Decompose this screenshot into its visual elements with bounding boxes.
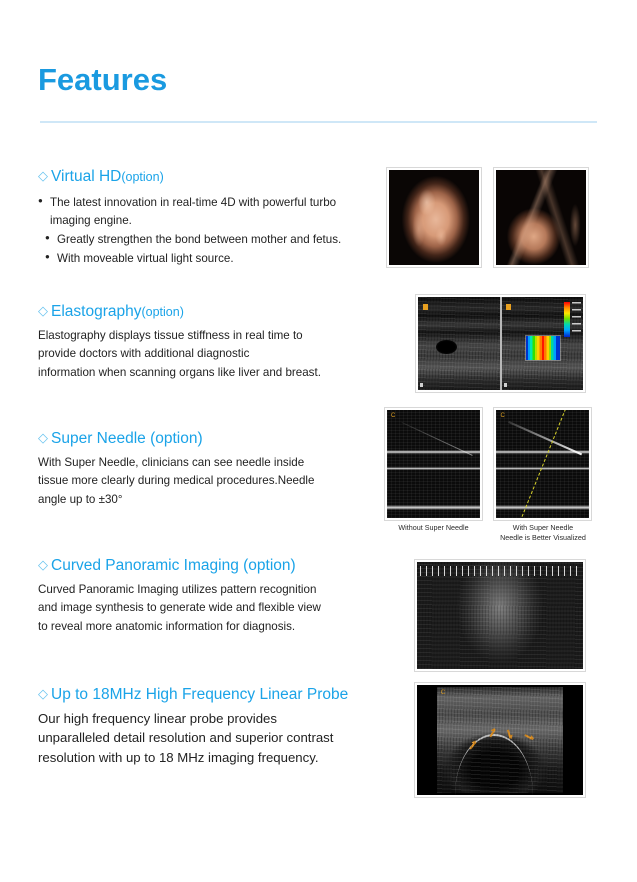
feature-virtual-hd-bullet-list: The latest innovation in real-time 4D wi… [38,194,378,269]
body-line: Our high frequency linear probe provides [38,711,277,726]
feature-curved-panoramic-text: ◇Curved Panoramic Imaging (option) Curve… [38,557,378,637]
feature-elastography-heading: ◇Elastography(option) [38,303,378,321]
diamond-bullet-icon: ◇ [38,430,48,445]
linear-probe-ultrasound: C [415,683,585,797]
annotation-arrow-icon [489,728,495,736]
anatomy-boundary [455,734,533,795]
title-divider [40,121,597,123]
feature-elastography-images [416,295,585,392]
panoramic-scale-ticks [420,566,579,576]
fetal-4d-render-right [494,168,588,267]
needle-with-super-needle: C [494,408,591,520]
list-item: With moveable virtual light source. [38,250,378,269]
page-title: Features [38,62,167,98]
list-item: Greatly strengthen the bond between moth… [38,231,378,250]
elastogram-roi-overlay [526,336,560,360]
list-item: The latest innovation in real-time 4D wi… [38,194,378,232]
needle-without-super-needle: C [385,408,482,520]
caption-line: Needle is Better Visualized [500,533,586,542]
body-line: to reveal more anatomic information for … [38,620,295,633]
probe-marker-icon: C [441,690,445,696]
feature-elastography-text: ◇Elastography(option) Elastography displ… [38,303,378,383]
panoramic-ultrasound [415,560,585,671]
body-line: unparalleled detail resolution and super… [38,730,333,745]
elastography-elastogram-pane [502,297,584,390]
elastography-color-scale [564,302,570,337]
feature-linear-probe-heading: ◇Up to 18MHz High Frequency Linear Probe [38,686,378,704]
feature-super-needle-body: With Super Needle, clinicians can see ne… [38,454,378,510]
feature-curved-panoramic-images [415,560,585,671]
body-line: provide doctors with additional diagnost… [38,347,249,360]
annotation-arrow-icon [525,734,534,740]
body-line: Curved Panoramic Imaging utilizes patter… [38,583,316,596]
feature-super-needle-text: ◇Super Needle (option) With Super Needle… [38,430,378,510]
feature-super-needle-heading: ◇Super Needle (option) [38,430,378,448]
probe-marker-icon: C [500,413,504,419]
body-line: Elastography displays tissue stiffness i… [38,329,303,342]
feature-linear-probe-body: Our high frequency linear probe provides… [38,709,378,768]
needle-caption-without: Without Super Needle [385,523,482,533]
body-line: angle up to ±30° [38,493,123,506]
caption-line: With Super Needle [513,523,573,532]
diamond-bullet-icon: ◇ [38,303,48,318]
feature-virtual-hd-heading: ◇Virtual HD(option) [38,168,378,186]
elastography-scale-labels [572,302,581,334]
feature-linear-probe-text: ◇Up to 18MHz High Frequency Linear Probe… [38,686,378,768]
feature-virtual-hd-text: ◇Virtual HD(option) The latest innovatio… [38,168,378,269]
feature-curved-panoramic-body: Curved Panoramic Imaging utilizes patter… [38,581,378,637]
diamond-bullet-icon: ◇ [38,686,48,701]
needle-caption-with: With Super Needle Needle is Better Visua… [494,523,591,544]
feature-virtual-hd-images [387,168,588,267]
elastography-dual-pane [416,295,585,392]
body-line: With Super Needle, clinicians can see ne… [38,456,304,469]
feature-curved-panoramic-heading: ◇Curved Panoramic Imaging (option) [38,557,378,575]
elastography-bmode-pane [418,297,502,390]
body-line: tissue more clearly during medical proce… [38,474,314,487]
body-line: information when scanning organs like li… [38,366,321,379]
diamond-bullet-icon: ◇ [38,168,48,183]
body-line: resolution with up to 18 MHz imaging fre… [38,750,319,765]
annotation-arrow-icon [469,742,476,750]
feature-linear-probe-images: C [415,683,585,797]
feature-elastography-body: Elastography displays tissue stiffness i… [38,327,378,383]
diamond-bullet-icon: ◇ [38,557,48,572]
fetal-4d-render-left [387,168,481,267]
probe-marker-icon: C [391,413,395,419]
annotation-arrow-icon [507,730,511,739]
feature-super-needle-images: C Without Super Needle C With Super Need… [385,408,591,544]
body-line: and image synthesis to generate wide and… [38,601,321,614]
